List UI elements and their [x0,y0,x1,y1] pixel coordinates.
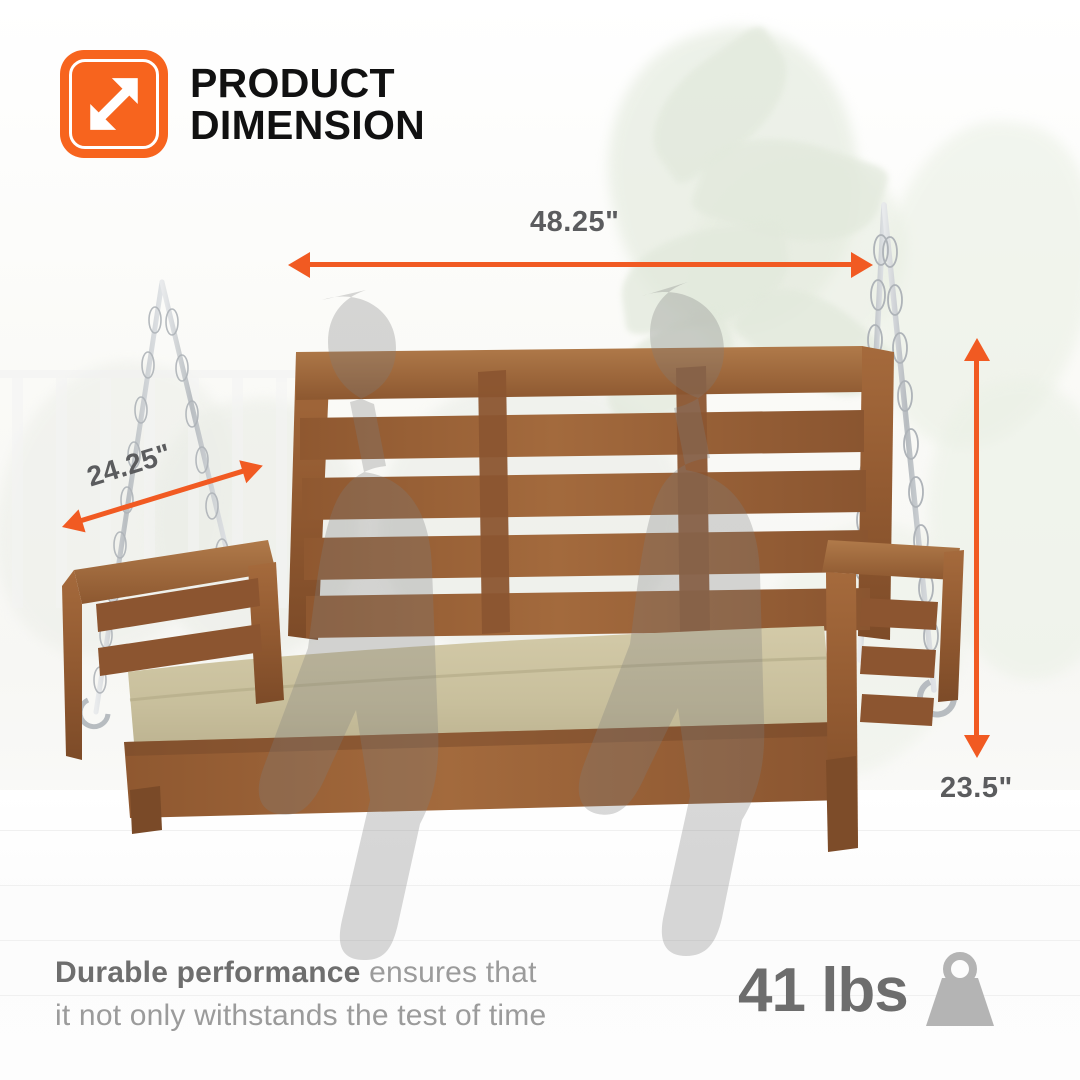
infographic-canvas: PRODUCT DIMENSION 48.25" 24.25" 23.5" Du… [0,0,1080,1080]
weight-value: 41 lbs [738,960,908,1022]
page-title: PRODUCT DIMENSION [190,62,425,146]
caption-line-1: Durable performance ensures that [55,952,546,995]
expand-arrows-icon [60,50,168,158]
title-line-2: DIMENSION [190,104,425,146]
weight-block: 41 lbs [738,952,1002,1030]
height-dimension-label: 23.5" [940,772,1013,805]
caption-line-2: it not only withstands the test of time [55,995,546,1038]
width-dimension-label: 48.25" [530,206,619,239]
title-line-1: PRODUCT [190,62,425,104]
weight-plate-icon [918,952,1002,1030]
caption-rest-text: ensures that [361,956,537,989]
footer-caption: Durable performance ensures that it not … [55,952,546,1037]
caption-bold-text: Durable performance [55,956,361,989]
header: PRODUCT DIMENSION [60,50,425,158]
porch-swing-illustration [0,0,1080,1080]
